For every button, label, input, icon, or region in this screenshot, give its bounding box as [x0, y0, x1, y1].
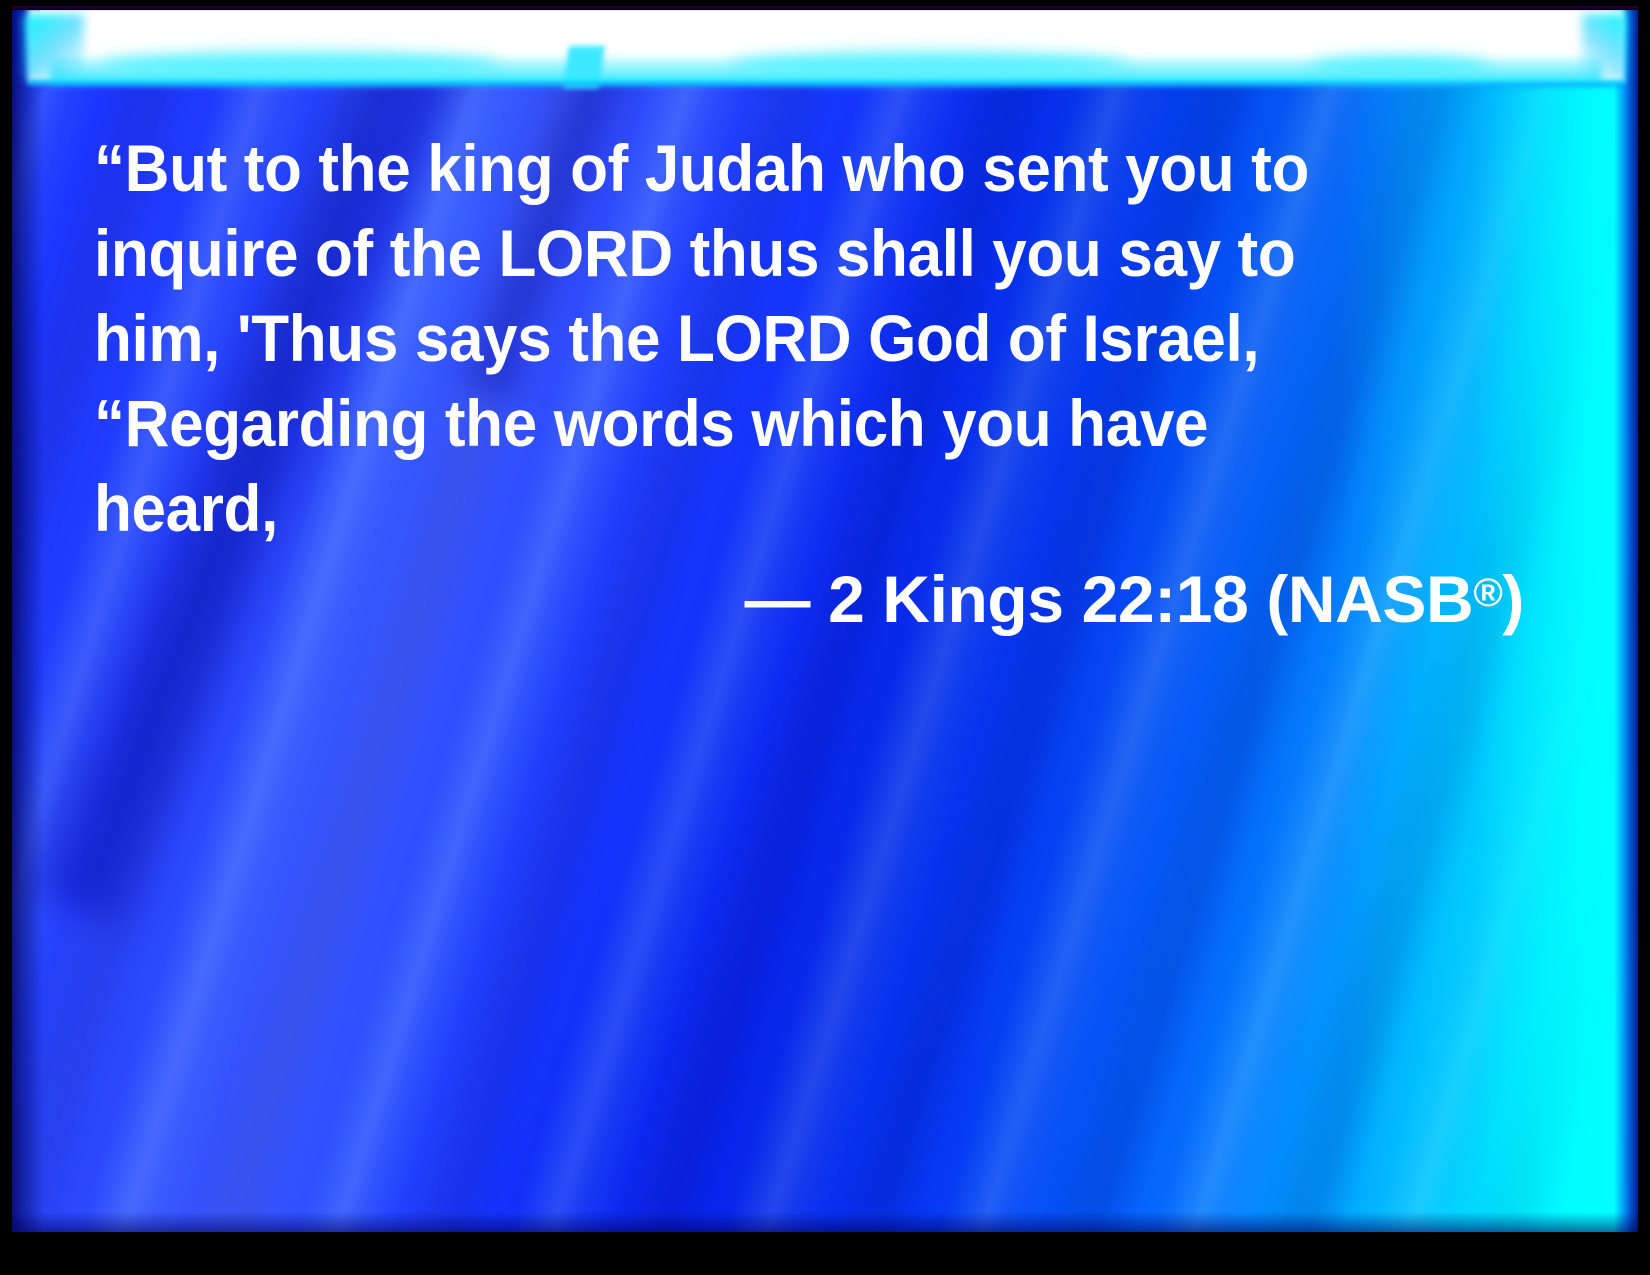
- header-corner-glow-right: [1582, 14, 1626, 80]
- header-baseline-glow: [28, 80, 1624, 88]
- frame-border-right: [1638, 0, 1650, 1275]
- verse-line-1: “But to the king of Judah who sent you t…: [94, 126, 1429, 211]
- verse-line-4: “Regarding the words which you have: [94, 381, 1429, 466]
- frame-border-bottom: [0, 1233, 1650, 1275]
- verse-slide: “But to the king of Judah who sent you t…: [0, 0, 1650, 1275]
- verse-citation: — 2 Kings 22:18 (NASB®): [94, 551, 1524, 642]
- registered-trademark-icon: ®: [1473, 571, 1502, 615]
- frame-border-left: [0, 0, 12, 1275]
- verse-line-2: inquire of the LORD thus shall you say t…: [94, 211, 1429, 296]
- background-left-edge-shade: [10, 8, 44, 1232]
- header-cyan-blob-center: [730, 52, 1130, 78]
- header-corner-glow-left: [24, 14, 84, 80]
- background-bottom-edge-shade: [10, 1212, 1640, 1232]
- verse-line-5: heard,: [94, 466, 1429, 551]
- citation-suffix: ): [1502, 562, 1524, 636]
- frame-border-top-sheen: [0, 6, 1650, 11]
- background-right-edge-shade: [1614, 8, 1640, 1232]
- header-cyan-blob-right: [1310, 56, 1490, 78]
- verse-line-3: him, 'Thus says the LORD God of Israel,: [94, 296, 1429, 381]
- verse-text-block: “But to the king of Judah who sent you t…: [94, 126, 1514, 551]
- header-cyan-blob-left: [100, 52, 500, 78]
- citation-prefix: — 2 Kings 22:18 (NASB: [745, 562, 1474, 636]
- slide-artwork: “But to the king of Judah who sent you t…: [10, 8, 1640, 1232]
